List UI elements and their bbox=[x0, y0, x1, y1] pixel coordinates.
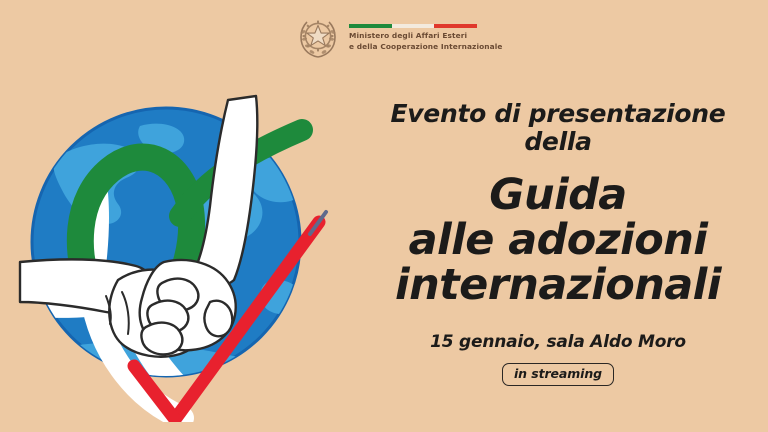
event-date-location: 15 gennaio, sala Aldo Moro bbox=[356, 332, 760, 352]
globe-hands-illustration bbox=[14, 66, 344, 422]
flag-stripe-green bbox=[349, 24, 392, 28]
ministry-logo: Ministero degli Affari Esteri e della Co… bbox=[296, 14, 502, 60]
badge-row: in streaming bbox=[356, 363, 760, 386]
flag-stripe-red bbox=[434, 24, 477, 28]
ministry-name-line-2: e della Cooperazione Internazionale bbox=[349, 42, 502, 52]
flag-stripe-white bbox=[392, 24, 435, 28]
title-line-1: Guida bbox=[356, 173, 760, 218]
title-line-3: internazionali bbox=[356, 263, 760, 308]
event-poster: Ministero degli Affari Esteri e della Co… bbox=[0, 0, 768, 432]
ministry-text-block: Ministero degli Affari Esteri e della Co… bbox=[349, 22, 502, 52]
italian-republic-emblem-icon bbox=[296, 14, 340, 60]
poster-text-column: Evento di presentazione della Guida alle… bbox=[356, 100, 760, 386]
page-title: Guida alle adozioni internazionali bbox=[356, 173, 760, 308]
eyebrow-line-2: della bbox=[524, 127, 591, 156]
italian-flag-bar bbox=[349, 24, 477, 28]
status-badge-streaming: in streaming bbox=[502, 363, 614, 386]
ministry-name-line-1: Ministero degli Affari Esteri bbox=[349, 31, 502, 41]
event-eyebrow: Evento di presentazione della bbox=[356, 100, 760, 156]
title-line-2: alle adozioni bbox=[356, 218, 760, 263]
eyebrow-line-1: Evento di presentazione bbox=[391, 99, 726, 128]
ministry-name: Ministero degli Affari Esteri e della Co… bbox=[349, 31, 502, 52]
